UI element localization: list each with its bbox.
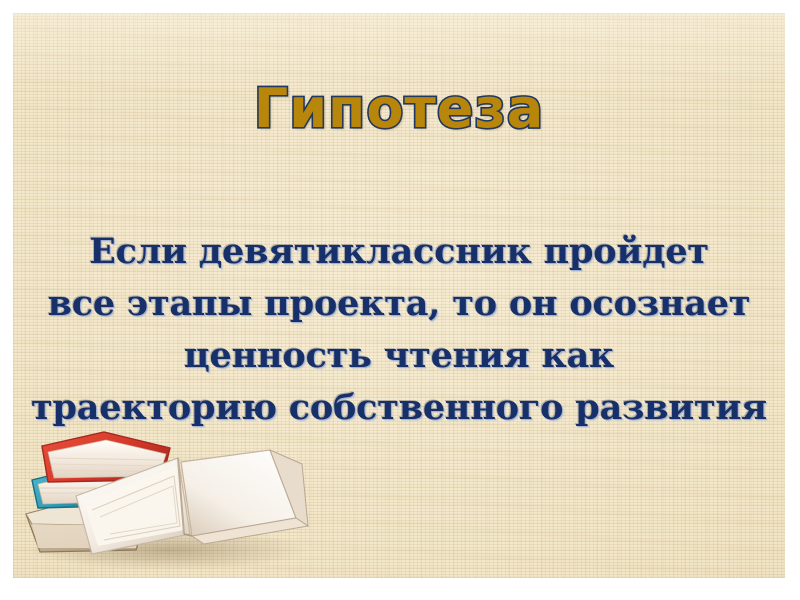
body-line-1: Если девятиклассник пройдет (31, 226, 767, 278)
body-line-2: все этапы проекта, то он осознает (31, 278, 767, 330)
slide: Гипотеза Если девятиклассник пройдет все… (0, 0, 800, 600)
title-container: Гипотеза (13, 81, 785, 138)
hypothesis-text-block: Если девятиклассник пройдет все этапы пр… (31, 226, 767, 434)
body-line-3: ценность чтения как (31, 330, 767, 382)
slide-canvas: Гипотеза Если девятиклассник пройдет все… (13, 13, 785, 578)
books-illustration (18, 422, 328, 572)
page-title: Гипотеза (254, 81, 544, 138)
